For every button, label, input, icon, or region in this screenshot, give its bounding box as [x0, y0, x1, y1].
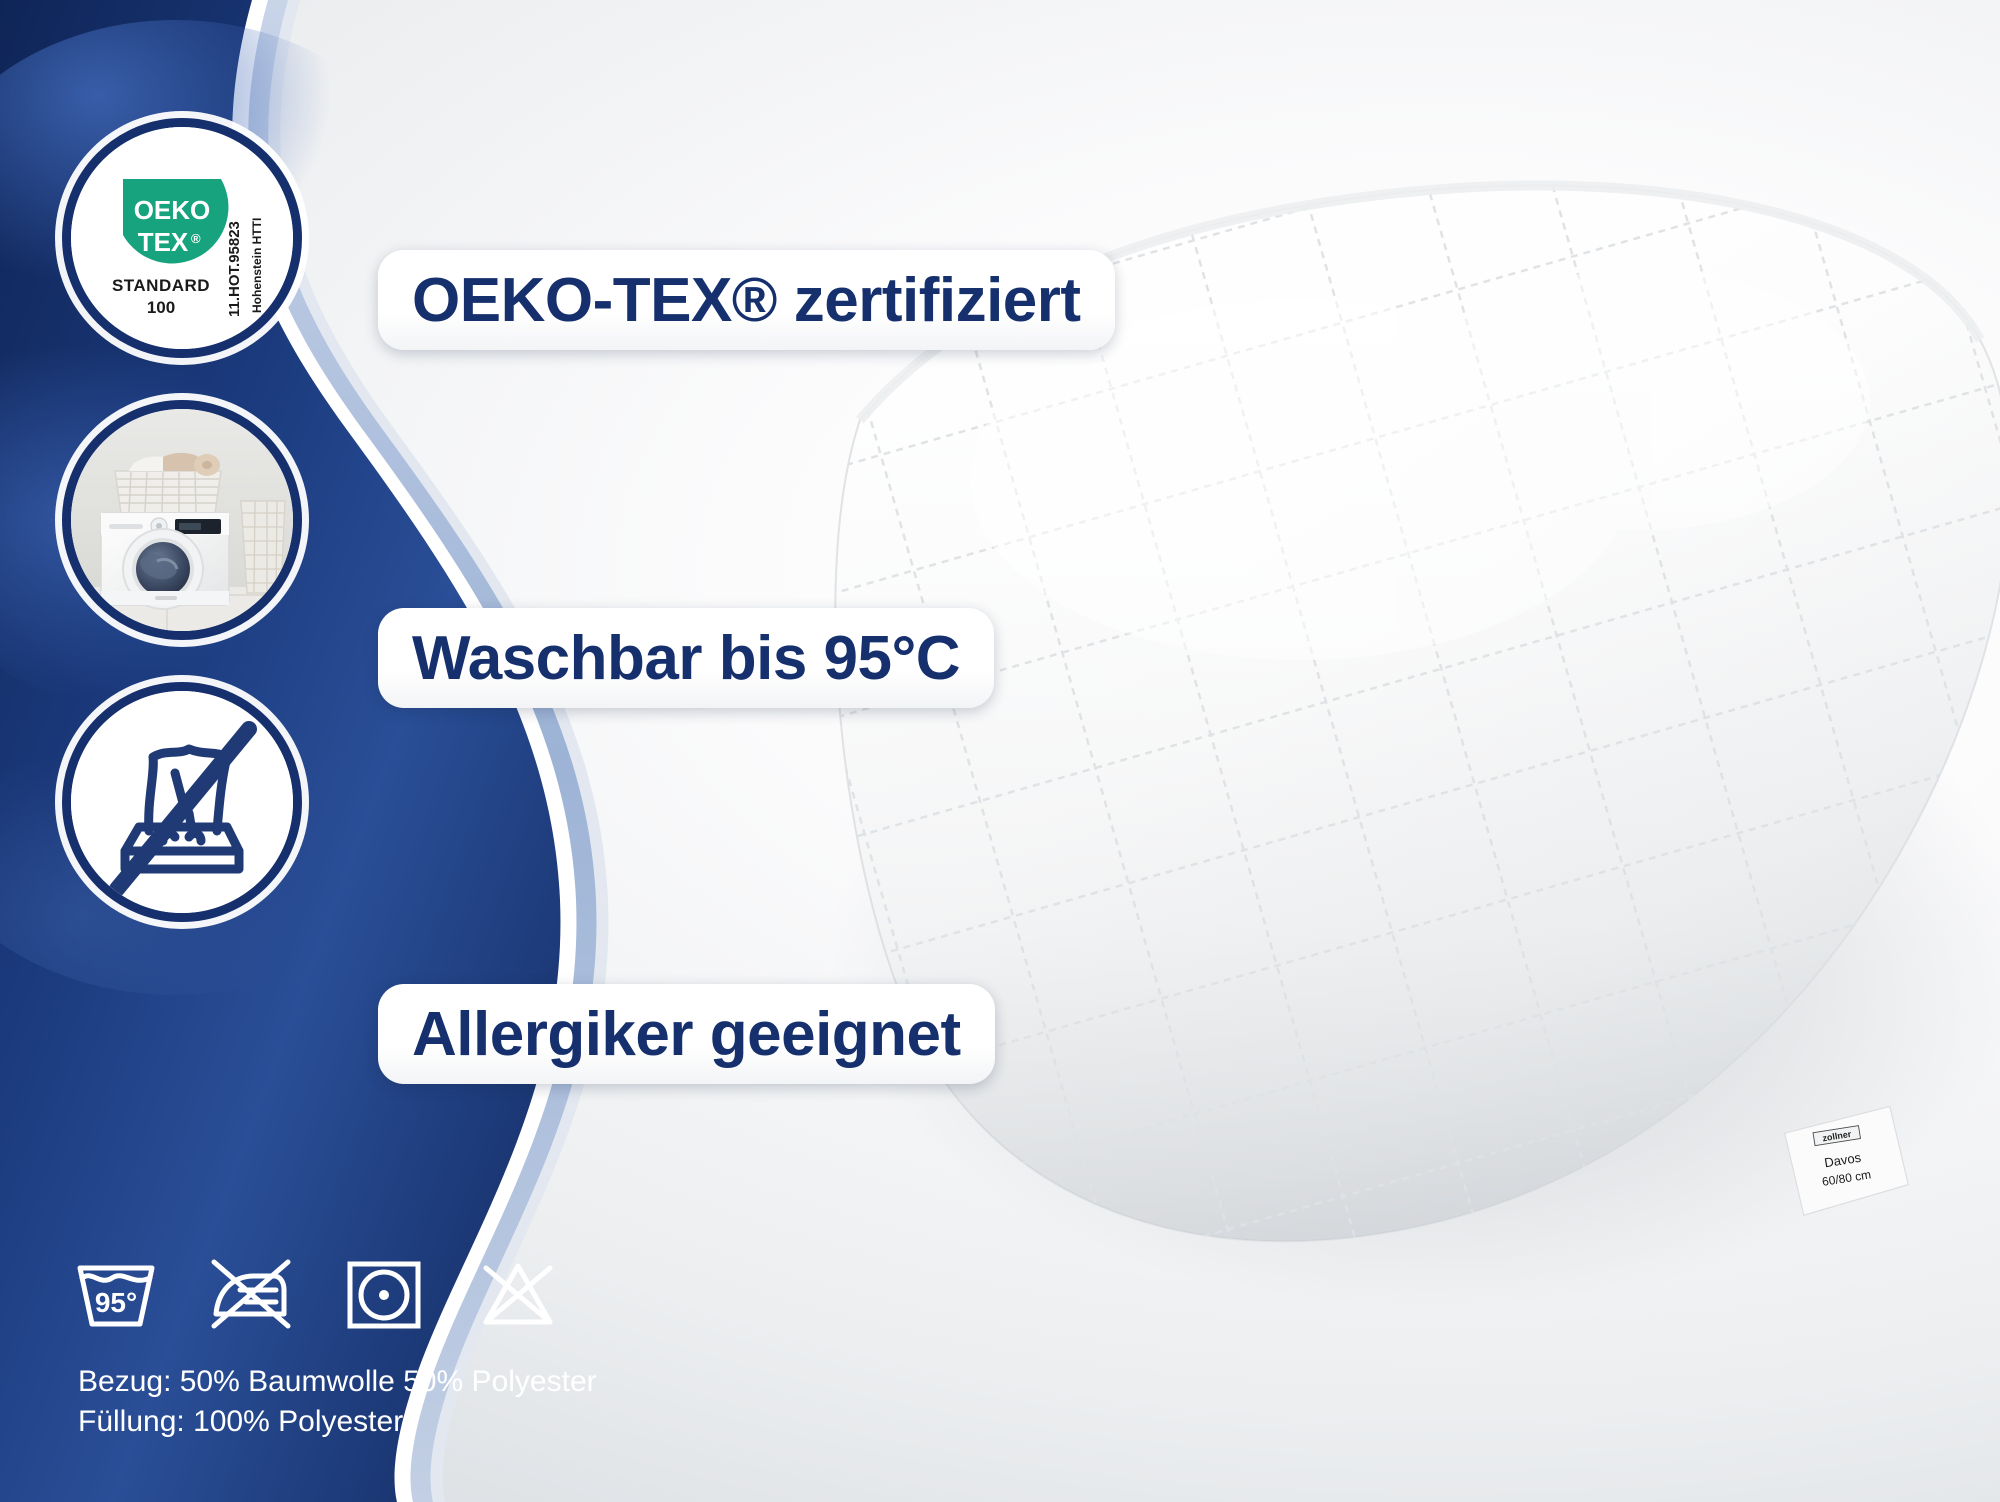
- feature-pill-oeko-tex: OEKO-TEX® zertifiziert: [378, 250, 1115, 350]
- feature-pill-allergy: Allergiker geeignet: [378, 984, 995, 1084]
- product-infographic: zollner Davos 60/80 cm OEKO TEX ® STANDA…: [0, 0, 2000, 1502]
- material-cover-text: Bezug: 50% Baumwolle 50% Polyester: [78, 1362, 597, 1402]
- oeko-standard-line1: STANDARD: [112, 276, 210, 295]
- oeko-logo-line2: TEX: [138, 227, 189, 257]
- product-care-label: zollner Davos 60/80 cm: [1778, 1099, 1913, 1224]
- material-filling-text: Füllung: 100% Polyester: [78, 1402, 597, 1442]
- badge-allergy-free: [62, 682, 302, 922]
- feature-pill-allergy-label: Allergiker geeignet: [412, 999, 961, 1070]
- care-symbols-row: 95°: [72, 1250, 562, 1336]
- wash-temp-label: 95°: [95, 1287, 137, 1318]
- feature-pill-oeko-tex-label: OEKO-TEX® zertifiziert: [412, 265, 1081, 336]
- wash-95-icon: 95°: [72, 1250, 160, 1336]
- badge-oeko-tex: OEKO TEX ® STANDARD 100 11.HOT.95823 Hoh…: [62, 118, 302, 358]
- oeko-standard-line2: 100: [147, 298, 175, 317]
- oeko-registered-mark: ®: [191, 231, 201, 246]
- do-not-bleach-icon: [474, 1250, 562, 1336]
- oeko-cert-number: 11.HOT.95823: [226, 221, 243, 317]
- feature-pill-washable: Waschbar bis 95°C: [378, 608, 994, 708]
- badge-washing-machine: [62, 400, 302, 640]
- oeko-institute: Hohenstein HTTI: [250, 218, 264, 313]
- tumble-dry-icon: [340, 1250, 428, 1336]
- tall-laundry-basket-icon: [241, 501, 285, 593]
- oeko-logo-line1: OEKO: [134, 195, 211, 225]
- do-not-iron-icon: [206, 1250, 294, 1336]
- feature-pill-washable-label: Waschbar bis 95°C: [412, 623, 960, 694]
- washing-machine-icon: [101, 513, 229, 609]
- material-composition: Bezug: 50% Baumwolle 50% Polyester Füllu…: [78, 1362, 597, 1442]
